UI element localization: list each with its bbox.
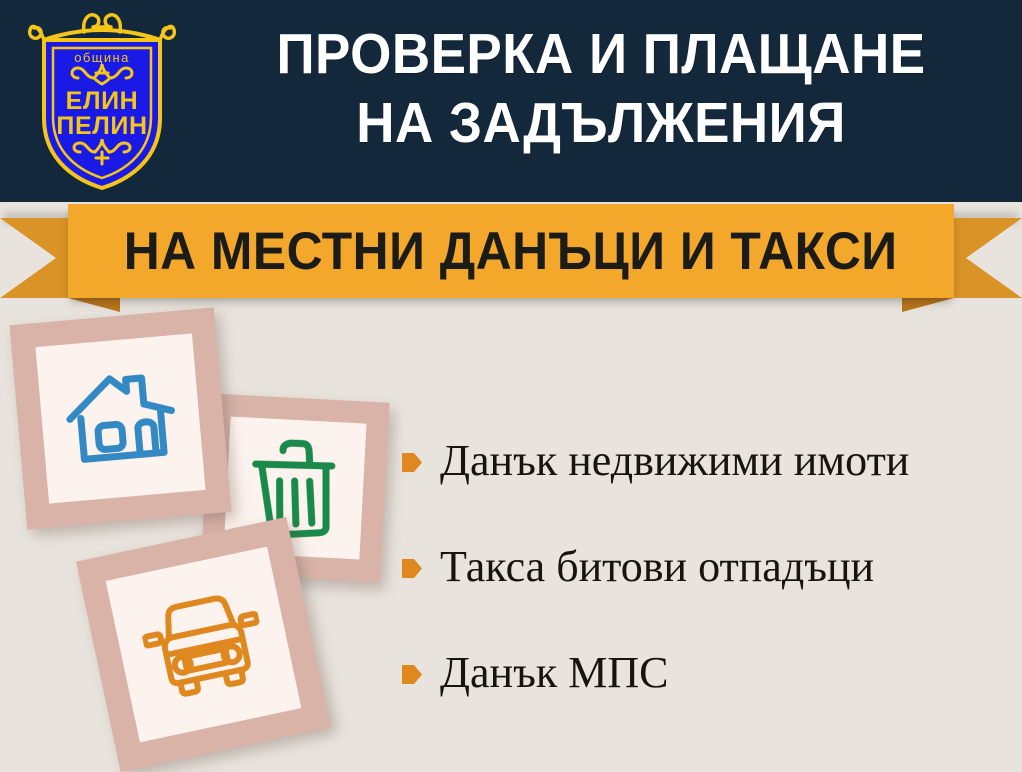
stamp-inner-house [35, 333, 205, 503]
stamp-card-vehicle-tax [76, 517, 331, 772]
subtitle-ribbon: НА МЕСТНИ ДАНЪЦИ И ТАКСИ [0, 200, 1022, 310]
stamp-inner-car [106, 547, 302, 743]
list-item[interactable]: Такса битови отпадъци [402, 538, 1012, 596]
page-title-line-1: ПРОВЕРКА И ПЛАЩАНЕ [224, 20, 977, 89]
svg-text:ПЕЛИН: ПЕЛИН [56, 112, 147, 140]
tax-type-list: Данък недвижими имоти Такса битови отпад… [402, 432, 1012, 702]
arrow-bullet-icon [402, 451, 422, 474]
ribbon-main-panel: НА МЕСТНИ ДАНЪЦИ И ТАКСИ [68, 204, 954, 298]
ribbon-fold-left [68, 298, 120, 312]
arrow-bullet-icon [402, 557, 422, 580]
stamp-card-property-tax [9, 307, 231, 529]
list-item-label: Такса битови отпадъци [440, 541, 874, 593]
ribbon-subtitle-text: НА МЕСТНИ ДАНЪЦИ И ТАКСИ [124, 221, 898, 282]
ribbon-fold-right [902, 298, 954, 312]
poster-root: община ЕЛИН ПЕЛИН [0, 0, 1022, 772]
list-item[interactable]: Данък недвижими имоти [402, 432, 1012, 490]
coat-of-arms-icon: община ЕЛИН ПЕЛИН [22, 6, 182, 191]
list-item[interactable]: Данък МПС [402, 644, 1012, 702]
list-item-label: Данък МПС [440, 647, 668, 699]
svg-text:ЕЛИН: ЕЛИН [66, 87, 139, 115]
header-banner: община ЕЛИН ПЕЛИН [0, 0, 1022, 202]
house-icon [60, 363, 180, 474]
page-title: ПРОВЕРКА И ПЛАЩАНЕ НА ЗАДЪЛЖЕНИЯ [196, 20, 1006, 158]
page-title-line-2: НА ЗАДЪЛЖЕНИЯ [224, 89, 977, 158]
list-item-label: Данък недвижими имоти [440, 435, 909, 487]
arrow-bullet-icon [402, 663, 422, 686]
car-front-icon [136, 585, 271, 703]
svg-text:община: община [74, 50, 129, 65]
